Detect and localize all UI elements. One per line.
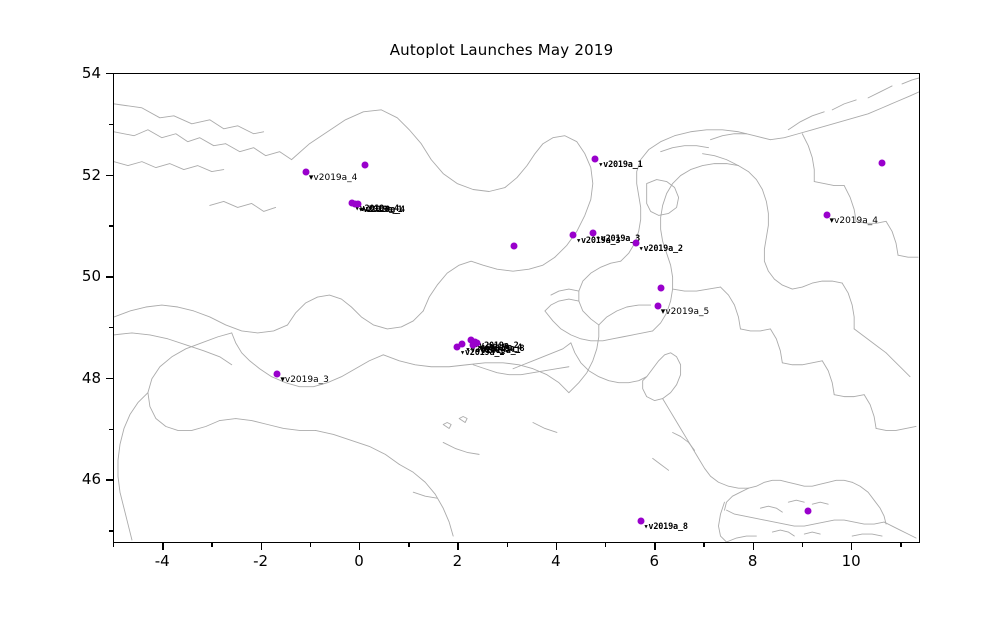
x-tick-label: 2 [427,552,487,570]
x-tick-major [753,543,754,550]
chart-title: Autoplot Launches May 2019 [0,41,1003,59]
scatter-marker [658,285,665,292]
x-tick-label: -2 [231,552,291,570]
y-tick-label: 46 [41,470,101,488]
x-tick-label: 10 [821,552,881,570]
scatter-point-label: ▾v2019a_4 [830,216,879,226]
x-tick-major [162,543,163,550]
y-tick-major [106,479,113,480]
x-tick-major [654,543,655,550]
figure-canvas: Autoplot Launches May 2019 [0,0,1003,633]
x-tick-label: 8 [723,552,783,570]
scatter-point-label: ▾v2019a_5 [661,307,710,317]
x-tick-minor [802,543,803,547]
scatter-point-label: ▾v2019a_2 [639,244,683,254]
y-tick-major [106,73,113,74]
x-tick-minor [211,543,212,547]
x-tick-minor [703,543,704,547]
y-tick-minor [109,327,113,328]
x-tick-major [556,543,557,550]
y-tick-major [106,276,113,277]
scatter-point-label: ▾v2019a_8 [644,522,688,532]
y-tick-label: 50 [41,267,101,285]
scatter-point-label: ▾v2019a_4 [309,173,358,183]
x-tick-minor [310,543,311,547]
y-tick-minor [109,530,113,531]
scatter-point-label: ▾v2019a_3 [280,375,329,385]
y-tick-minor [109,429,113,430]
x-tick-major [457,543,458,550]
plot-area: ▾v2019a_4▾v2019a_4▾v2019a_1▾v2019a_4▾v20… [113,73,920,543]
x-tick-major [851,543,852,550]
scatter-marker [361,161,368,168]
x-tick-minor [507,543,508,547]
y-tick-major [106,378,113,379]
scatter-point-label: ▾v2019a_4 [361,205,405,215]
x-tick-major [359,543,360,550]
scatter-point-label: ▾v2019a_1 [598,160,642,170]
y-tick-label: 54 [41,64,101,82]
x-tick-minor [113,543,114,547]
x-tick-label: 0 [329,552,389,570]
x-tick-label: 6 [624,552,684,570]
x-tick-minor [605,543,606,547]
x-tick-minor [408,543,409,547]
scatter-marker [510,242,517,249]
scatter-point-label: ▾v2019a_8 [480,344,524,354]
x-tick-minor [900,543,901,547]
y-tick-label: 48 [41,369,101,387]
y-tick-label: 52 [41,166,101,184]
x-tick-major [261,543,262,550]
y-tick-minor [109,124,113,125]
x-tick-label: 4 [526,552,586,570]
x-tick-label: -4 [132,552,192,570]
y-tick-major [106,175,113,176]
scatter-marker [878,159,885,166]
y-tick-minor [109,225,113,226]
scatter-marker [804,507,811,514]
scatter-points-layer: ▾v2019a_4▾v2019a_4▾v2019a_1▾v2019a_4▾v20… [114,74,919,542]
